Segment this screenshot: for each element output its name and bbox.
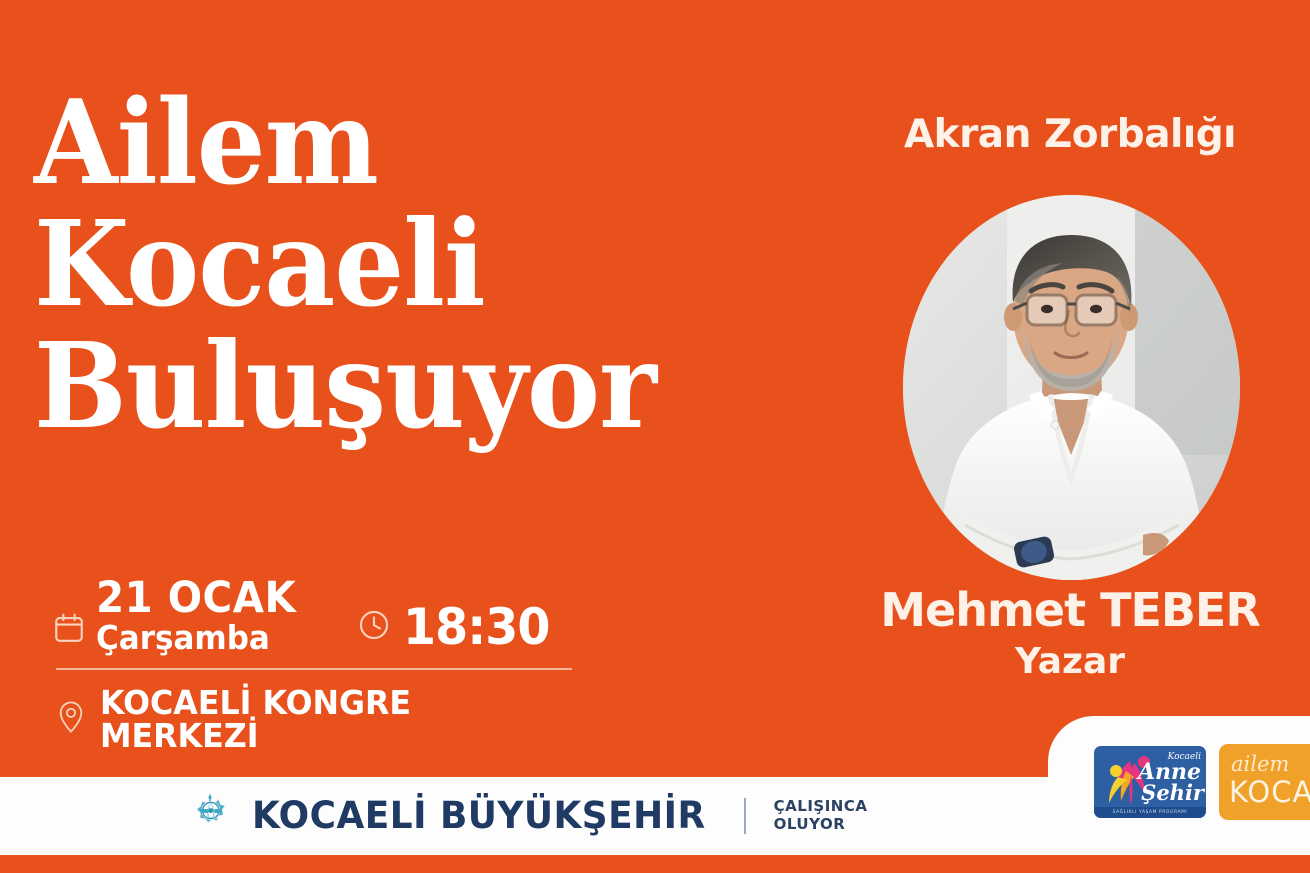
- calendar-icon: [52, 611, 86, 650]
- date-text: 21 OCAK Çarşamba: [96, 577, 309, 656]
- event-details: 21 OCAK Çarşamba 18:30: [52, 570, 582, 752]
- event-weekday: Çarşamba: [96, 621, 296, 656]
- speaker-portrait: [903, 195, 1240, 580]
- speaker-name: Mehmet TEBER: [855, 587, 1285, 633]
- municipality-slogan: ÇALIŞINCA OLUYOR: [774, 798, 868, 833]
- event-venue: KOCAELİ KONGRE MERKEZİ: [100, 686, 563, 752]
- slogan-line-2: OLUYOR: [774, 815, 846, 833]
- event-poster: Ailem Kocaeli Buluşuyor 21 OCAK Çarşamba: [0, 0, 1310, 873]
- ailem-badge-word: KOCA: [1229, 778, 1310, 807]
- clock-icon: [357, 608, 391, 647]
- page-title: Ailem Kocaeli Buluşuyor: [34, 88, 794, 442]
- kocaeli-gear-emblem-icon: [184, 787, 236, 844]
- ailem-kocaeli-badge: ailem KOCA: [1219, 744, 1310, 820]
- divider: [56, 668, 572, 670]
- time-group: 18:30: [357, 602, 557, 652]
- anne-badge-tagline: SAĞLIKLI YAŞAM PROGRAMI: [1094, 807, 1206, 818]
- date-time-row: 21 OCAK Çarşamba 18:30: [52, 570, 582, 656]
- event-date: 21 OCAK: [96, 577, 296, 620]
- slogan-line-1: ÇALIŞINCA: [774, 797, 868, 815]
- date-group: 21 OCAK Çarşamba: [52, 577, 309, 656]
- event-time: 18:30: [403, 602, 549, 652]
- anne-badge-sehir: Şehir: [1138, 783, 1204, 803]
- headline-line-1: Ailem: [34, 88, 741, 199]
- headline-line-3: Buluşuyor: [34, 329, 741, 442]
- location-pin-icon: [56, 700, 86, 739]
- speaker-topic: Akran Zorbalığı: [860, 115, 1280, 154]
- bottom-orange-strip: [0, 855, 1310, 873]
- logo-separator: [744, 798, 746, 834]
- headline-line-2: Kocaeli: [34, 207, 741, 320]
- kocaeli-anne-sehir-badge: Kocaeli Anne Şehir SAĞLIKLI YAŞAM PROGRA…: [1094, 746, 1206, 818]
- municipality-name: KOCAELİ BÜYÜKŞEHİR: [252, 797, 706, 834]
- kocaeli-municipality-logo: KOCAELİ BÜYÜKŞEHİR ÇALIŞINCA OLUYOR: [184, 787, 867, 844]
- venue-row: KOCAELİ KONGRE MERKEZİ: [56, 686, 582, 752]
- ailem-badge-script: ailem: [1231, 754, 1289, 775]
- anne-sehir-wordmark: Kocaeli Anne Şehir: [1138, 753, 1201, 803]
- speaker-role: Yazar: [855, 644, 1285, 680]
